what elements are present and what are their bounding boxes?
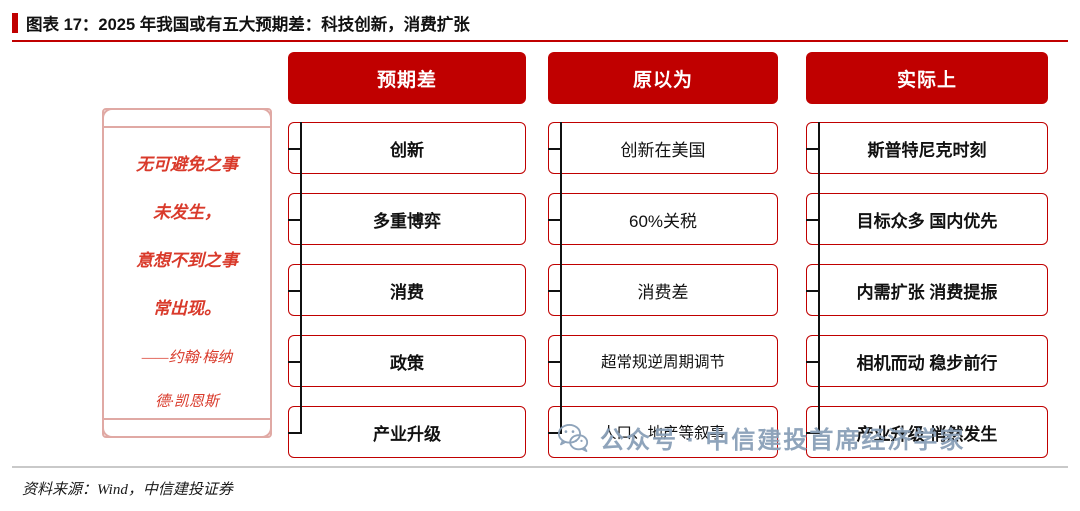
quote-line: 无可避免之事 (102, 150, 272, 175)
title-divider (12, 40, 1068, 42)
column-header: 实际上 (806, 52, 1048, 104)
cell-item[interactable]: 产业升级 (288, 406, 526, 458)
cell-item[interactable]: 斯普特尼克时刻 (806, 122, 1048, 174)
connector-branch (288, 148, 300, 150)
source-note: 资料来源：Wind，中信建投证券 (22, 478, 233, 499)
scroll-top-curl-icon (102, 108, 272, 128)
cell-item[interactable]: 多重博弈 (288, 193, 526, 245)
cell-item[interactable]: 消费 (288, 264, 526, 316)
cell-item[interactable]: 超常规逆周期调节 (548, 335, 778, 387)
cell-item[interactable]: 创新 (288, 122, 526, 174)
cell-item[interactable]: 目标众多 国内优先 (806, 193, 1048, 245)
cell-item[interactable]: 政策 (288, 335, 526, 387)
cell-item[interactable]: 创新在美国 (548, 122, 778, 174)
connector-branch (548, 290, 560, 292)
connector-trunk (300, 122, 302, 434)
title-accent-bar (12, 13, 18, 33)
connector-branch (548, 148, 560, 150)
wechat-watermark-text: 公众号 · 中信建投首席经济学家 (600, 420, 965, 455)
quote-attribution: 德·凯恩斯 (102, 390, 272, 411)
connector-branch (288, 361, 300, 363)
wechat-icon (556, 421, 590, 455)
connector-branch (806, 290, 818, 292)
column-header: 原以为 (548, 52, 778, 104)
page-title: 图表 17：2025 年我国或有五大预期差：科技创新，消费扩张 (26, 11, 470, 35)
footer-divider (12, 466, 1068, 468)
connector-branch (806, 361, 818, 363)
connector-trunk (560, 122, 562, 434)
cell-item[interactable]: 消费差 (548, 264, 778, 316)
column-header: 预期差 (288, 52, 526, 104)
quote-attribution: ——约翰·梅纳 (102, 346, 272, 367)
scroll-bottom-curl-icon (102, 418, 272, 438)
wechat-watermark: 公众号 · 中信建投首席经济学家 (556, 420, 965, 455)
cell-item[interactable]: 相机而动 稳步前行 (806, 335, 1048, 387)
connector-trunk (818, 122, 820, 434)
cell-item[interactable]: 60%关税 (548, 193, 778, 245)
connector-branch (288, 290, 300, 292)
connector-branch (806, 219, 818, 221)
chart-title-bar: 图表 17：2025 年我国或有五大预期差：科技创新，消费扩张 (0, 8, 1080, 38)
quote-line: 常出现。 (102, 294, 272, 319)
connector-branch (548, 361, 560, 363)
cell-item[interactable]: 内需扩张 消费提振 (806, 264, 1048, 316)
connector-branch (548, 219, 560, 221)
connector-branch (288, 219, 300, 221)
column-expectation-gap: 预期差 创新 多重博弈 消费 政策 产业升级 (288, 52, 526, 504)
connector-branch (806, 148, 818, 150)
quote-scroll: 无可避免之事 未发生， 意想不到之事 常出现。 ——约翰·梅纳 德·凯恩斯 (60, 50, 290, 450)
quote-line: 意想不到之事 (102, 246, 272, 271)
quote-line: 未发生， (102, 198, 272, 223)
connector-branch (288, 432, 300, 434)
